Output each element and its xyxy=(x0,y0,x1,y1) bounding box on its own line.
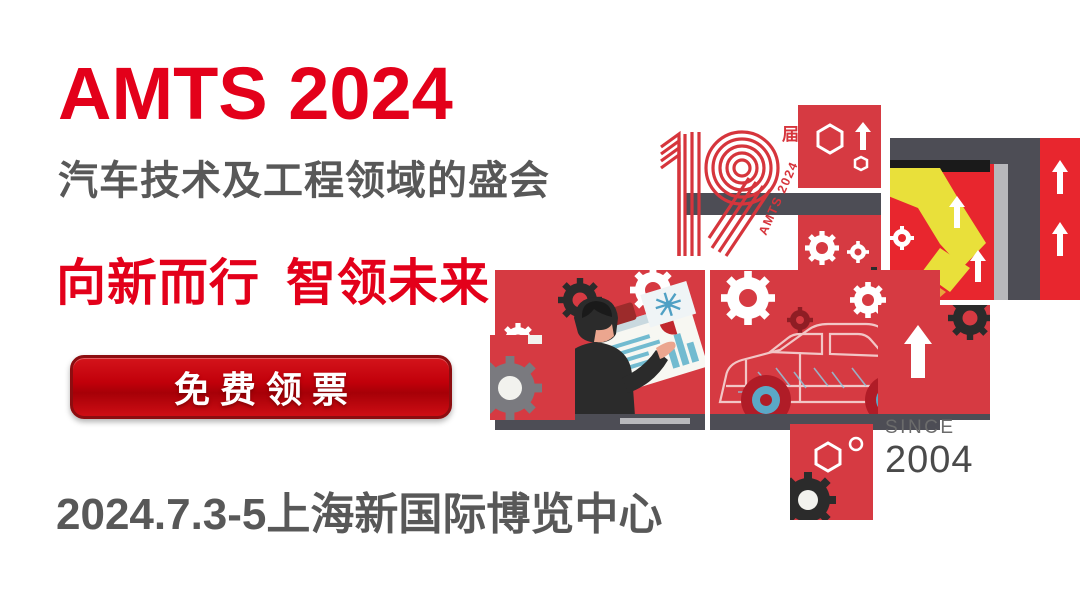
promo-banner: AMTS 2024 汽车技术及工程领域的盛会 向新而行智领未来 免费领票 202… xyxy=(0,0,1080,608)
page-title: AMTS 2024 xyxy=(58,57,453,131)
since-label: SINCE xyxy=(885,417,1035,439)
panel-top-right xyxy=(798,105,881,188)
slogan: 向新而行智领未来 xyxy=(56,256,490,311)
panel-far-right xyxy=(1040,138,1080,300)
edition-logo: 届 AMTS 2024 xyxy=(661,125,801,256)
gear-icon xyxy=(805,231,839,265)
gear-icon xyxy=(478,356,542,420)
panel-small-left xyxy=(478,335,575,420)
edition-suffix: 届 xyxy=(782,125,799,144)
panel-bottom-center xyxy=(780,424,873,528)
collage-svg: 届 AMTS 2024 xyxy=(470,0,1080,608)
since-year: 2004 xyxy=(885,441,1035,481)
since-block: SINCE 2004 xyxy=(885,417,1035,481)
free-ticket-button[interactable]: 免费领票 xyxy=(70,355,452,419)
collage-graphic: 届 AMTS 2024 SINCE 2004 xyxy=(470,0,1080,608)
panel-lower-right xyxy=(878,296,992,420)
slogan-part-2: 智领未来 xyxy=(286,255,490,311)
edition-number-1 xyxy=(661,132,699,256)
gear-icon xyxy=(721,271,775,325)
gear-icon xyxy=(780,472,836,528)
free-ticket-button-label: 免费领票 xyxy=(164,361,358,413)
gear-icon xyxy=(948,296,992,340)
slogan-part-1: 向新而行 xyxy=(56,255,260,311)
